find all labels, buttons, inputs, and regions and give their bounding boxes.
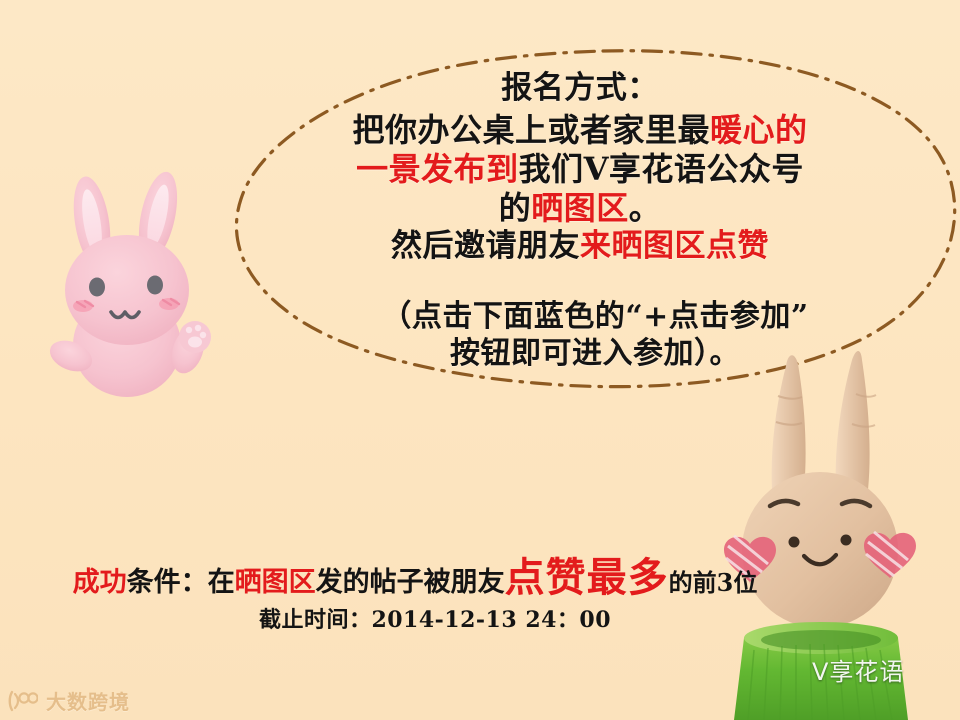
line3-black: 我们V享花语公众号 — [519, 150, 804, 188]
line3-red: 一景发布到 — [356, 150, 519, 188]
line5-red: 来晒图区点赞 — [580, 228, 769, 264]
line2-black: 把你办公桌上或者家里最 — [352, 111, 710, 149]
bubble-paren-line-1: （点击下面蓝色的“+点击参加” — [250, 298, 940, 335]
bubble-text-block: 报名方式： 把你办公桌上或者家里最暖心的 一景发布到我们V享花语公众号 的晒图区… — [250, 70, 910, 266]
bubble-line-1: 报名方式： — [250, 70, 910, 108]
pink-bunny-illustration — [45, 170, 235, 405]
condition-black-a: 条件：在 — [127, 567, 235, 598]
line4-black-b: 。 — [629, 189, 662, 227]
bubble-line-2: 把你办公桌上或者家里最暖心的 — [250, 111, 910, 150]
line2-red: 暖心的 — [710, 111, 808, 149]
watermark-text: 大数跨境 — [46, 686, 130, 715]
brand-label: V享花语 — [812, 652, 904, 687]
condition-red-emphasis: 点赞最多 — [505, 554, 669, 601]
bubble-line-4: 的晒图区。 — [250, 189, 910, 228]
condition-line: 成功条件：在晒图区发的帖子被朋友点赞最多的前3位 — [0, 545, 830, 603]
bubble-line-5: 然后邀请朋友来晒图区点赞 — [250, 228, 910, 266]
line5-black: 然后邀请朋友 — [391, 228, 580, 264]
bubble-line-3: 一景发布到我们V享花语公众号 — [250, 150, 910, 189]
condition-black-b: 发的帖子被朋友 — [316, 567, 505, 598]
line4-red: 晒图区 — [531, 189, 629, 227]
watermark: 大数跨境 — [8, 686, 130, 715]
poster-canvas: 报名方式： 把你办公桌上或者家里最暖心的 一景发布到我们V享花语公众号 的晒图区… — [0, 0, 960, 720]
condition-black-tail: 的前3位 — [669, 568, 758, 597]
condition-red-a: 成功 — [73, 567, 127, 598]
line4-black-a: 的 — [499, 189, 532, 227]
watermark-logo-icon — [8, 690, 38, 712]
condition-red-b: 晒图区 — [235, 567, 316, 598]
deadline-line: 截止时间：2014-12-13 24：00 — [0, 602, 870, 634]
